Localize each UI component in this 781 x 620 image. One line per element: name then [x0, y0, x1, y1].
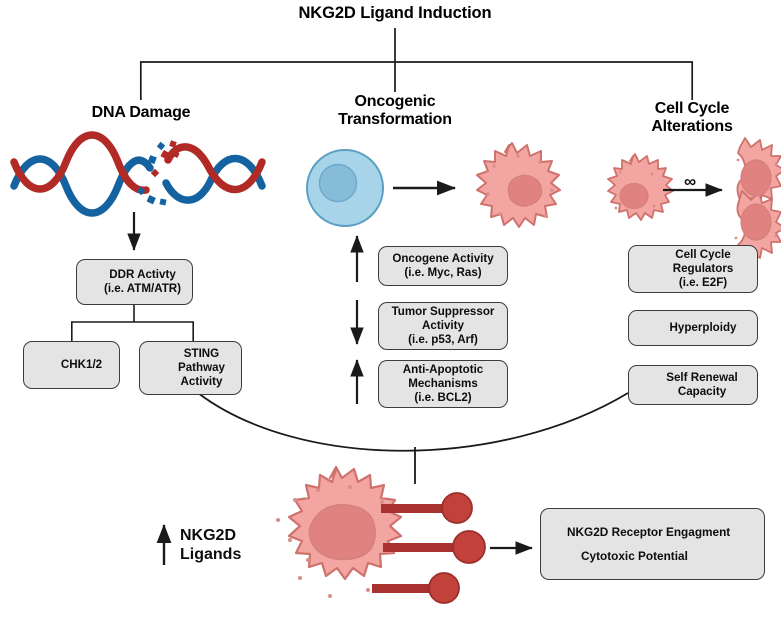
- box-nkg2d-receptor-engagement[interactable]: NKG2D Receptor Engagment Cytotoxic Poten…: [540, 508, 765, 580]
- box-hyperploidy[interactable]: Hyperploidy: [628, 310, 758, 346]
- box-nkg2d-receptor-engagement-line-2: Cytotoxic Potential: [581, 549, 688, 563]
- branch-label-oncogenic-transformation: Oncogenic Transformation: [305, 93, 485, 130]
- box-tumor-suppressor-activity-label: Tumor Suppressor Activity (i.e. p53, Arf…: [392, 305, 495, 347]
- dna-break-fragments: [137, 140, 180, 205]
- box-sting-pathway-activity[interactable]: STING Pathway Activity: [139, 341, 242, 395]
- box-chk12-label: CHK1/2: [61, 358, 102, 372]
- box-anti-apoptotic-mechanisms[interactable]: Anti-Apoptotic Mechanisms (i.e. BCL2): [378, 360, 508, 408]
- box-ddr-activity-label: DDR Activty (i.e. ATM/ATR): [104, 268, 181, 296]
- box-self-renewal-capacity-label: Self Renewal Capacity: [666, 371, 738, 399]
- dna-double-helix-illustration: [14, 135, 262, 250]
- box-tumor-suppressor-activity[interactable]: Tumor Suppressor Activity (i.e. p53, Arf…: [378, 302, 508, 350]
- diagram-canvas: NKG2D Ligand Induction DNA Damage Oncoge…: [0, 0, 781, 620]
- branch-label-cell-cycle-alterations: Cell Cycle Alterations: [603, 100, 781, 137]
- box-nkg2d-receptor-engagement-line-1: NKG2D Receptor Engagment: [567, 525, 730, 539]
- box-ddr-activity[interactable]: DDR Activty (i.e. ATM/ATR): [76, 259, 193, 305]
- box-oncogene-activity[interactable]: Oncogene Activity (i.e. Myc, Ras): [378, 246, 508, 286]
- box-cell-cycle-regulators-label: Cell Cycle Regulators (i.e. E2F): [673, 248, 734, 290]
- box-chk12[interactable]: CHK1/2: [23, 341, 120, 389]
- box-anti-apoptotic-mechanisms-label: Anti-Apoptotic Mechanisms (i.e. BCL2): [403, 363, 484, 405]
- branch-label-dna-damage: DNA Damage: [50, 104, 232, 122]
- dna-damage-box-connectors: [71, 305, 194, 341]
- page-title: NKG2D Ligand Induction: [245, 4, 545, 23]
- box-hyperploidy-label: Hyperploidy: [670, 321, 737, 335]
- nkg2d-ligands-label: NKG2D Ligands: [180, 526, 290, 564]
- infinity-icon: ∞: [684, 172, 696, 192]
- box-self-renewal-capacity[interactable]: Self Renewal Capacity: [628, 365, 758, 405]
- box-oncogene-activity-label: Oncogene Activity (i.e. Myc, Ras): [392, 252, 493, 280]
- nkg2d-ligand-3: [372, 573, 459, 603]
- box-cell-cycle-regulators[interactable]: Cell Cycle Regulators (i.e. E2F): [628, 245, 758, 293]
- tree-connectors: [140, 28, 693, 100]
- nkg2d-ligand-1: [381, 493, 472, 523]
- box-sting-pathway-activity-label: STING Pathway Activity: [178, 347, 225, 389]
- nkg2d-ligand-2: [383, 531, 485, 563]
